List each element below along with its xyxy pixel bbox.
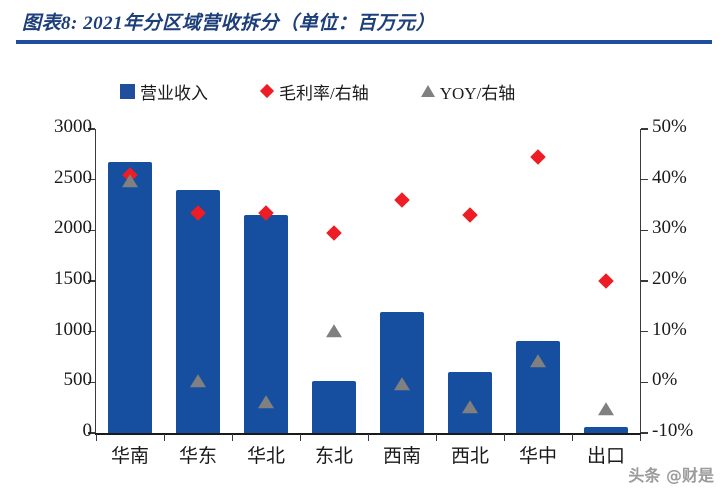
legend-item-revenue: 营业收入 (120, 79, 208, 104)
y-axis-right-tick (641, 280, 648, 281)
square-swatch-icon (120, 84, 135, 99)
x-axis-label-华东: 华东 (164, 441, 232, 468)
y-axis-right-tick (641, 331, 648, 332)
y-axis-right-tick (641, 382, 648, 383)
bar-华南 (108, 162, 153, 433)
y-axis-right-tick (641, 128, 648, 129)
x-axis-tick (504, 434, 505, 441)
x-axis-label-华南: 华南 (96, 441, 164, 468)
watermark: 头条 @财是 (628, 462, 714, 486)
y-axis-right-label: 10% (652, 319, 687, 341)
y-axis-left-line (95, 129, 96, 433)
x-axis-tick (368, 434, 369, 441)
x-axis-tick (96, 434, 97, 441)
y-axis-left-label: 0 (83, 420, 93, 442)
yoy-marker-西南 (394, 377, 410, 390)
gross-margin-marker-西北 (462, 207, 478, 223)
y-axis-left-label: 500 (64, 369, 93, 391)
title-divider (16, 40, 712, 44)
x-axis-tick (436, 434, 437, 441)
yoy-marker-华东 (190, 375, 206, 388)
chart-legend: 营业收入 毛利率/右轴 YOY/右轴 (120, 78, 640, 104)
page-title: 图表8: 2021年分区域营收拆分（单位：百万元） (22, 8, 435, 35)
x-axis-label-西北: 西北 (436, 441, 504, 468)
y-axis-left-label: 3000 (54, 116, 92, 138)
y-axis-right-tick (641, 179, 648, 180)
x-axis-label-西南: 西南 (368, 441, 436, 468)
legend-label: 营业收入 (140, 79, 208, 104)
gross-margin-marker-出口 (598, 273, 614, 289)
x-axis-tick (300, 434, 301, 441)
legend-item-gross-margin: 毛利率/右轴 (260, 79, 369, 104)
y-axis-right-tick (641, 432, 648, 433)
x-axis-tick (232, 434, 233, 441)
x-axis-tick (572, 434, 573, 441)
yoy-marker-华北 (258, 395, 274, 408)
y-axis-right-label: 40% (652, 167, 687, 189)
yoy-marker-东北 (326, 324, 342, 337)
x-axis-label-东北: 东北 (300, 441, 368, 468)
y-axis-right-tick (641, 230, 648, 231)
legend-label: 毛利率/右轴 (279, 79, 369, 104)
x-axis-tick (640, 434, 641, 441)
gross-margin-marker-东北 (326, 225, 342, 241)
y-axis-left-label: 2500 (54, 167, 92, 189)
x-axis-label-华北: 华北 (232, 441, 300, 468)
x-axis-tick (164, 434, 165, 441)
y-axis-left-label: 2000 (54, 217, 92, 239)
diamond-swatch-icon (260, 84, 274, 98)
yoy-marker-出口 (598, 402, 614, 415)
triangle-swatch-icon (421, 85, 435, 97)
yoy-marker-西北 (462, 400, 478, 413)
yoy-marker-华中 (530, 354, 546, 367)
gross-margin-marker-西南 (394, 192, 410, 208)
y-axis-right-label: 0% (652, 369, 677, 391)
y-axis-left-label: 1000 (54, 319, 92, 341)
yoy-marker-华南 (122, 174, 138, 187)
bar-华东 (176, 190, 221, 433)
bar-出口 (584, 427, 629, 433)
legend-item-yoy: YOY/右轴 (421, 79, 516, 104)
bar-西南 (380, 312, 425, 433)
plot-area: 050010001500200025003000-10%0%10%20%30%4… (96, 129, 640, 433)
y-axis-right-label: 50% (652, 116, 687, 138)
x-axis-label-华中: 华中 (504, 441, 572, 468)
y-axis-right-label: -10% (652, 420, 693, 442)
bar-东北 (312, 381, 357, 433)
legend-label: YOY/右轴 (440, 79, 516, 104)
y-axis-left-label: 1500 (54, 268, 92, 290)
y-axis-right-label: 30% (652, 217, 687, 239)
y-axis-right-label: 20% (652, 268, 687, 290)
chart-page: 图表8: 2021年分区域营收拆分（单位：百万元） 营业收入 毛利率/右轴 YO… (0, 0, 728, 498)
gross-margin-marker-华中 (530, 149, 546, 165)
